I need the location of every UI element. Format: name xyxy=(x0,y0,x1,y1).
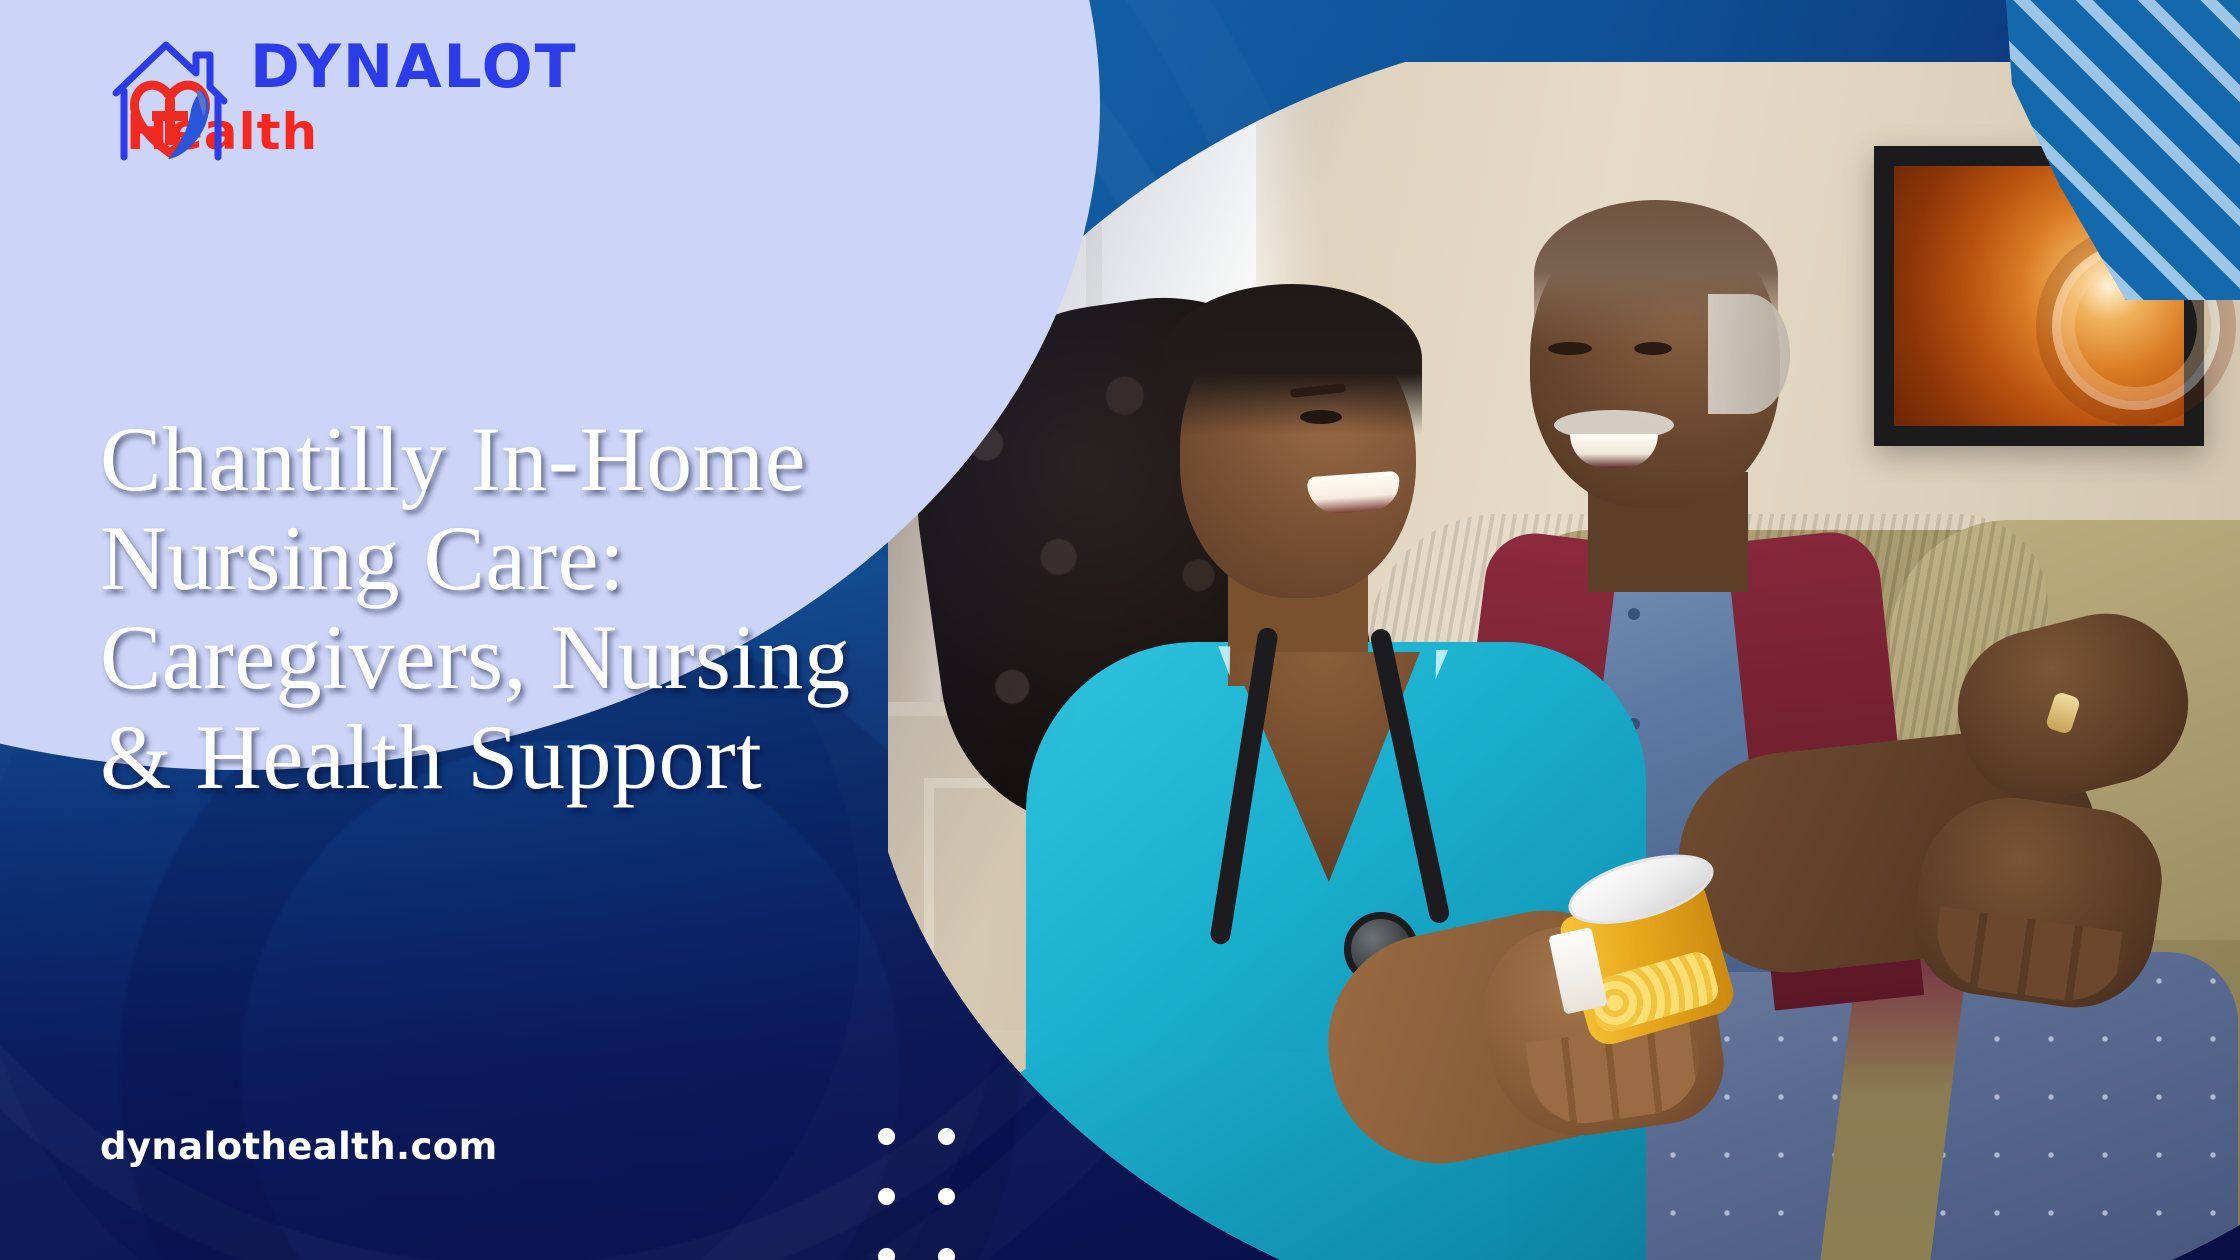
brand-logo[interactable]: DYNALOT Health xyxy=(104,22,524,172)
decor-dot xyxy=(938,1188,955,1205)
decor-dot xyxy=(878,1128,895,1145)
decor-dot xyxy=(878,1248,895,1260)
decor-dot xyxy=(878,1188,895,1205)
nurse-eye xyxy=(1300,410,1342,424)
nurse-hair-top xyxy=(1162,284,1422,434)
marketing-banner: DYNALOT Health Chantilly In-Home Nursing… xyxy=(0,0,2240,1260)
hero-photo xyxy=(888,62,2240,1260)
hero-photo-scene xyxy=(888,62,2240,1260)
nurse-caregiver xyxy=(948,222,1668,1260)
brand-name-top: DYNALOT xyxy=(250,37,578,97)
dot-grid-pattern xyxy=(878,1128,988,1260)
brand-wordmark: DYNALOT Health xyxy=(246,37,578,157)
website-url: dynalothealth.com xyxy=(100,1125,498,1168)
decor-dot xyxy=(938,1248,955,1260)
decor-dot xyxy=(938,1128,955,1145)
patient-hair-side xyxy=(1708,294,1790,414)
page-title: Chantilly In-Home Nursing Care: Caregive… xyxy=(100,410,930,807)
house-heart-cross-hand-icon xyxy=(104,29,236,165)
